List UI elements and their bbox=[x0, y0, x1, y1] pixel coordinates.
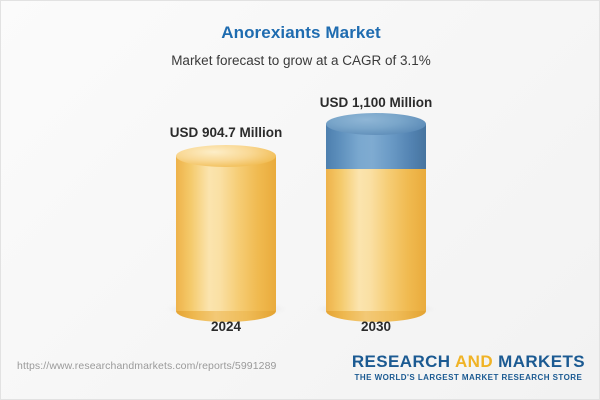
value-label-2024: USD 904.7 Million bbox=[111, 125, 341, 140]
chart-canvas: Anorexiants Market Market forecast to gr… bbox=[0, 0, 600, 400]
bar-segment-growth-2030[interactable] bbox=[326, 124, 426, 169]
source-url[interactable]: https://www.researchandmarkets.com/repor… bbox=[17, 360, 276, 372]
chart-footer: https://www.researchandmarkets.com/repor… bbox=[1, 347, 600, 399]
category-label-2024: 2024 bbox=[176, 319, 276, 334]
category-label-2030: 2030 bbox=[326, 319, 426, 334]
logo-wordmark: RESEARCH AND MARKETS bbox=[352, 353, 585, 371]
bar-segment-base-2024[interactable] bbox=[176, 156, 276, 311]
bar-segment-base-2030[interactable] bbox=[326, 169, 426, 311]
logo-word-markets: MARKETS bbox=[498, 352, 585, 371]
logo-word-and: AND bbox=[455, 352, 493, 371]
plot-area: USD 904.7 Million USD 1,100 Million bbox=[1, 1, 600, 346]
cylinder-2030[interactable] bbox=[326, 124, 426, 311]
cylinder-body-2024 bbox=[176, 156, 276, 311]
logo-word-research: RESEARCH bbox=[352, 352, 451, 371]
research-and-markets-logo[interactable]: RESEARCH AND MARKETS THE WORLD'S LARGEST… bbox=[352, 353, 585, 382]
cylinder-cap-2024 bbox=[176, 145, 276, 167]
cylinder-cap-2030 bbox=[326, 113, 426, 135]
cylinder-body-base-2030 bbox=[326, 169, 426, 311]
logo-tagline: THE WORLD'S LARGEST MARKET RESEARCH STOR… bbox=[352, 373, 585, 382]
cylinder-2024[interactable] bbox=[176, 156, 276, 311]
value-label-2030: USD 1,100 Million bbox=[261, 95, 491, 110]
